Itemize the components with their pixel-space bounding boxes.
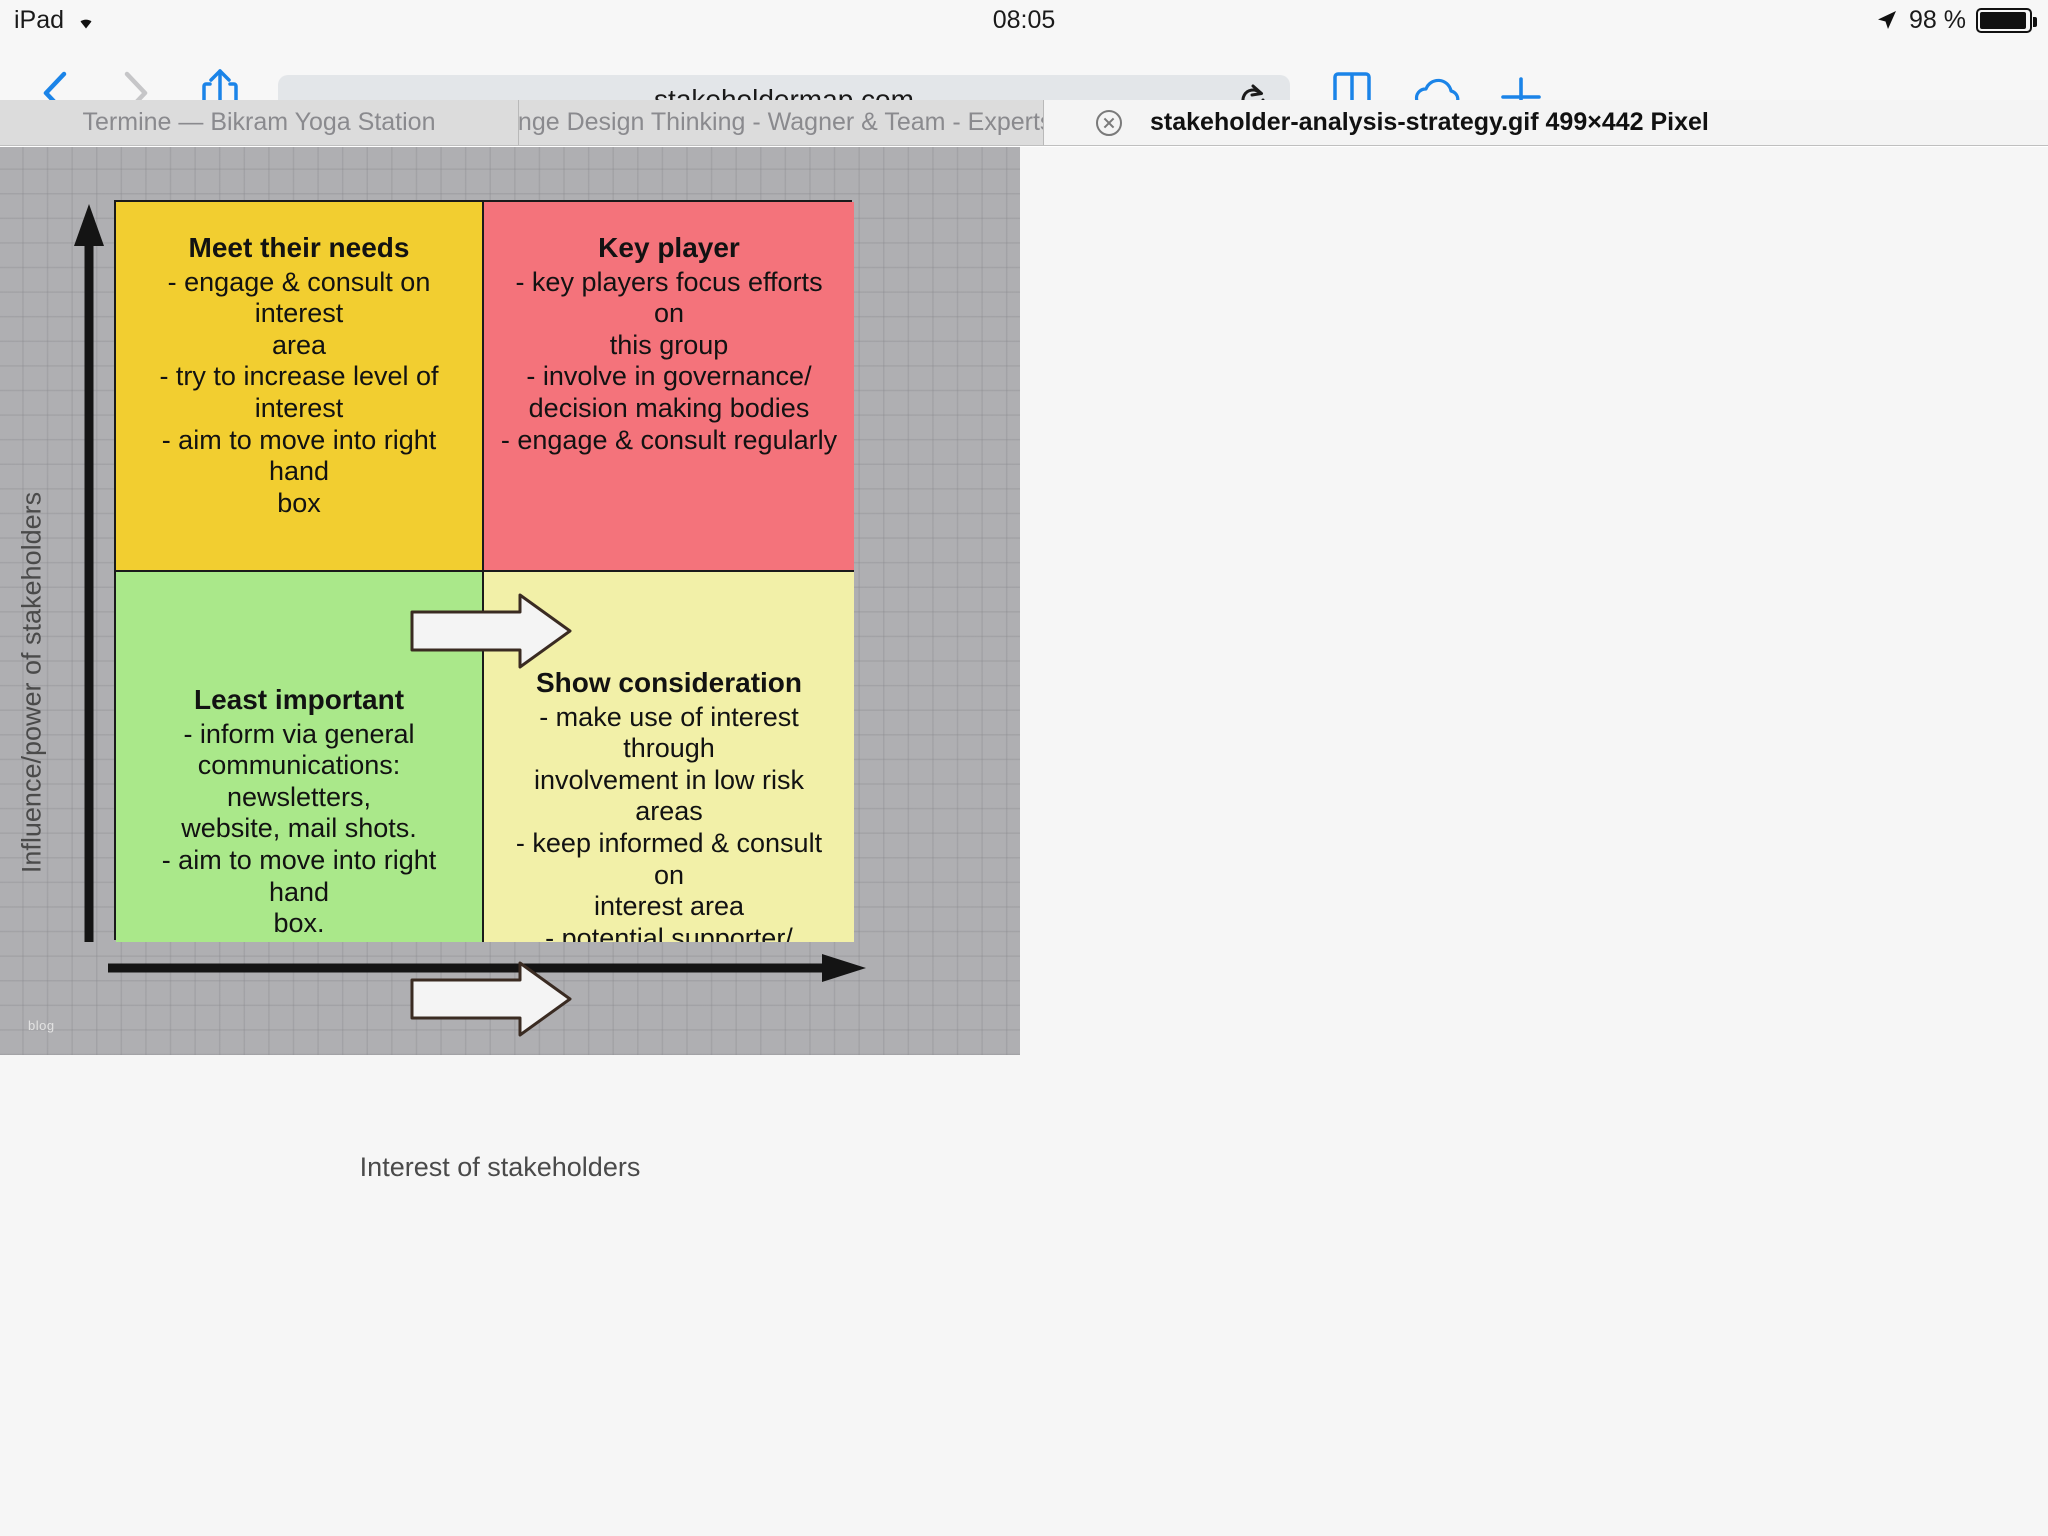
quadrant-line: communications: newsletters, — [130, 750, 468, 813]
battery-full-icon — [1976, 8, 2032, 33]
browser-toolbar: stakeholdermap.com — [0, 40, 2048, 100]
quadrant-matrix: Meet their needs - engage & consult on i… — [114, 200, 852, 940]
y-axis-label: Influence/power of stakeholders — [17, 383, 48, 983]
quadrant-line: box — [130, 488, 468, 520]
watermark-label: blog — [28, 1018, 55, 1033]
quadrant-line: decision making bodies — [498, 393, 840, 425]
quadrant-line: - engage & consult on interest — [130, 267, 468, 330]
location-arrow-icon — [1875, 8, 1899, 32]
quadrant-line: interest — [130, 393, 468, 425]
tab-title: stakeholder-analysis-strategy.gif 499×44… — [1150, 108, 1709, 137]
browser-tab-active[interactable]: stakeholder-analysis-strategy.gif 499×44… — [1044, 100, 2048, 145]
quadrant-line: - keep informed & consult on — [498, 828, 840, 891]
status-bar-right: 98 % — [1875, 6, 2032, 35]
quadrant-line: - potential supporter/ goodwill — [498, 923, 840, 942]
quadrant-line: - inform via general — [130, 719, 468, 751]
quadrant-meet-their-needs: Meet their needs - engage & consult on i… — [116, 202, 484, 572]
image-viewer: Influence/power of stakeholders Interest… — [0, 147, 2048, 1536]
browser-tab[interactable]: Termine — Bikram Yoga Station — [0, 100, 519, 145]
viewer-empty-area — [1020, 147, 2048, 1536]
quadrant-line: - involve in governance/ — [498, 361, 840, 393]
quadrant-title: Key player — [498, 232, 840, 265]
browser-tab[interactable]: Change Design Thinking - Wagner & Team -… — [519, 100, 1044, 145]
quadrant-line: - try to increase level of — [130, 361, 468, 393]
quadrant-title: Show consideration — [498, 667, 840, 700]
quadrant-line: - engage & consult regularly — [498, 425, 840, 457]
quadrant-show-consideration: Show consideration - make use of interes… — [484, 572, 854, 942]
quadrant-title: Meet their needs — [130, 232, 468, 265]
quadrant-line: - aim to move into right hand — [130, 425, 468, 488]
status-bar-time: 08:05 — [0, 6, 2048, 35]
quadrant-line: - aim to move into right hand — [130, 845, 468, 908]
x-axis-arrow-icon — [108, 953, 868, 988]
y-axis-arrow-icon — [73, 202, 105, 947]
x-axis-label: Interest of stakeholders — [250, 1152, 750, 1183]
tab-title: Change Design Thinking - Wagner & Team -… — [519, 108, 1044, 137]
quadrant-key-player: Key player - key players focus efforts o… — [484, 202, 854, 572]
tab-title: Termine — Bikram Yoga Station — [83, 108, 436, 137]
close-circle-icon[interactable] — [1096, 110, 1122, 136]
quadrant-line: website, mail shots. — [130, 813, 468, 845]
quadrant-line: involvement in low risk areas — [498, 765, 840, 828]
quadrant-least-important: Least important - inform via general com… — [116, 572, 484, 942]
battery-percent-label: 98 % — [1909, 6, 1966, 35]
quadrant-title: Least important — [130, 684, 468, 717]
quadrant-line: interest area — [498, 891, 840, 923]
ios-status-bar: iPad 08:05 98 % — [0, 0, 2048, 40]
tab-bar: Termine — Bikram Yoga Station Change Des… — [0, 100, 2048, 146]
stakeholder-matrix-figure: Influence/power of stakeholders Interest… — [0, 147, 1020, 1055]
quadrant-line: - make use of interest through — [498, 702, 840, 765]
quadrant-line: area — [130, 330, 468, 362]
quadrant-line: - key players focus efforts on — [498, 267, 840, 330]
quadrant-line: this group — [498, 330, 840, 362]
quadrant-line: box. — [130, 908, 468, 940]
